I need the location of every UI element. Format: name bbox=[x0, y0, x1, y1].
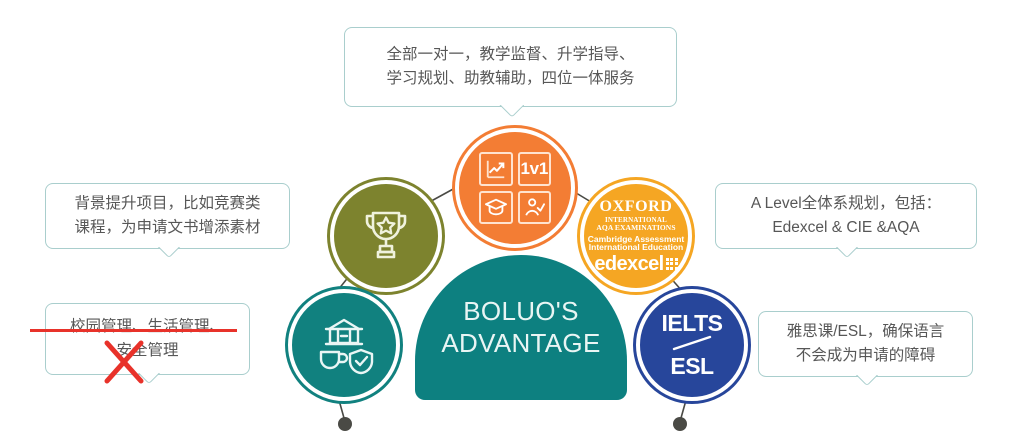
callout-alevel-planning[interactable]: A Level全体系规划，包括： Edexcel & CIE &AQA bbox=[715, 183, 977, 249]
esl-label: ESL bbox=[662, 355, 723, 378]
callout-tail-icon bbox=[853, 375, 879, 388]
aqa-examinations-line: AQA EXAMINATIONS bbox=[584, 224, 688, 232]
callout-tail-icon bbox=[155, 247, 181, 260]
cup-icon bbox=[321, 352, 339, 368]
chart-line-icon bbox=[485, 158, 507, 180]
edexcel-dots-icon bbox=[666, 258, 678, 270]
campus-management-node[interactable] bbox=[288, 289, 400, 401]
callout-one-on-one[interactable]: 全部一对一，教学监督、升学指导、 学习规划、助教辅助，四位一体服务 bbox=[344, 27, 677, 107]
callout-background-enhancement-text: 背景提升项目，比如竞赛类 课程，为申请文书增添素材 bbox=[74, 192, 260, 240]
callout-ielts-esl[interactable]: 雅思课/ESL，确保语言 不会成为申请的障碍 bbox=[758, 311, 973, 377]
ielts-esl-text: IELTS ESL bbox=[662, 312, 723, 378]
center-dome-line1: BOLUO'S bbox=[441, 296, 600, 328]
callout-one-on-one-text: 全部一对一，教学监督、升学指导、 学习规划、助教辅助，四位一体服务 bbox=[386, 43, 634, 91]
exam-board-badge-node[interactable]: OXFORD INTERNATIONAL AQA EXAMINATIONS Ca… bbox=[580, 180, 692, 292]
trophy-star-icon bbox=[359, 207, 413, 265]
school-building-icon bbox=[326, 320, 362, 344]
red-cross-mark bbox=[100, 338, 148, 386]
callout-tail-icon bbox=[498, 105, 524, 118]
one-on-one-label: 1v1 bbox=[521, 159, 548, 179]
one-on-one-node[interactable]: 1v1 bbox=[455, 128, 575, 248]
oxford-line: OXFORD bbox=[584, 199, 688, 215]
callout-tail-icon bbox=[833, 247, 859, 260]
shield-check-icon bbox=[350, 350, 372, 373]
bottom-dot-left bbox=[338, 417, 352, 431]
ielts-label: IELTS bbox=[662, 312, 723, 335]
slash-divider-icon bbox=[664, 335, 720, 351]
international-education-line: International Education bbox=[584, 243, 688, 252]
person-check-icon-cell bbox=[518, 191, 552, 225]
red-strikethrough-line bbox=[30, 329, 237, 332]
callout-ielts-esl-text: 雅思课/ESL，确保语言 不会成为申请的障碍 bbox=[787, 320, 945, 368]
one-on-one-label-cell: 1v1 bbox=[518, 152, 552, 186]
bottom-dot-right bbox=[673, 417, 687, 431]
edexcel-logo: edexcel bbox=[594, 254, 677, 274]
edexcel-wordmark: edexcel bbox=[594, 254, 663, 274]
exam-board-badge-text: OXFORD INTERNATIONAL AQA EXAMINATIONS Ca… bbox=[584, 198, 688, 274]
person-check-icon bbox=[523, 196, 545, 218]
center-dome-text: BOLUO'S ADVANTAGE bbox=[441, 296, 600, 359]
callout-background-enhancement[interactable]: 背景提升项目，比如竞赛类 课程，为申请文书增添素材 bbox=[45, 183, 290, 249]
campus-icons-group bbox=[311, 314, 377, 376]
graduation-cap-icon-cell bbox=[479, 191, 513, 225]
infographic-canvas: 全部一对一，教学监督、升学指导、 学习规划、助教辅助，四位一体服务 背景提升项目… bbox=[0, 0, 1024, 448]
callout-alevel-planning-text: A Level全体系规划，包括： Edexcel & CIE &AQA bbox=[751, 192, 941, 240]
center-dome-line2: ADVANTAGE bbox=[441, 328, 600, 360]
cup-handle-icon bbox=[339, 354, 347, 362]
competition-trophy-node[interactable] bbox=[330, 180, 442, 292]
chart-line-icon-cell bbox=[479, 152, 513, 186]
one-on-one-icon-grid: 1v1 bbox=[479, 152, 551, 224]
shield-checkmark-icon bbox=[356, 357, 367, 365]
edexcel-line: edexcel bbox=[584, 254, 688, 274]
ielts-esl-node[interactable]: IELTS ESL bbox=[636, 289, 748, 401]
graduation-cap-icon bbox=[484, 196, 508, 218]
